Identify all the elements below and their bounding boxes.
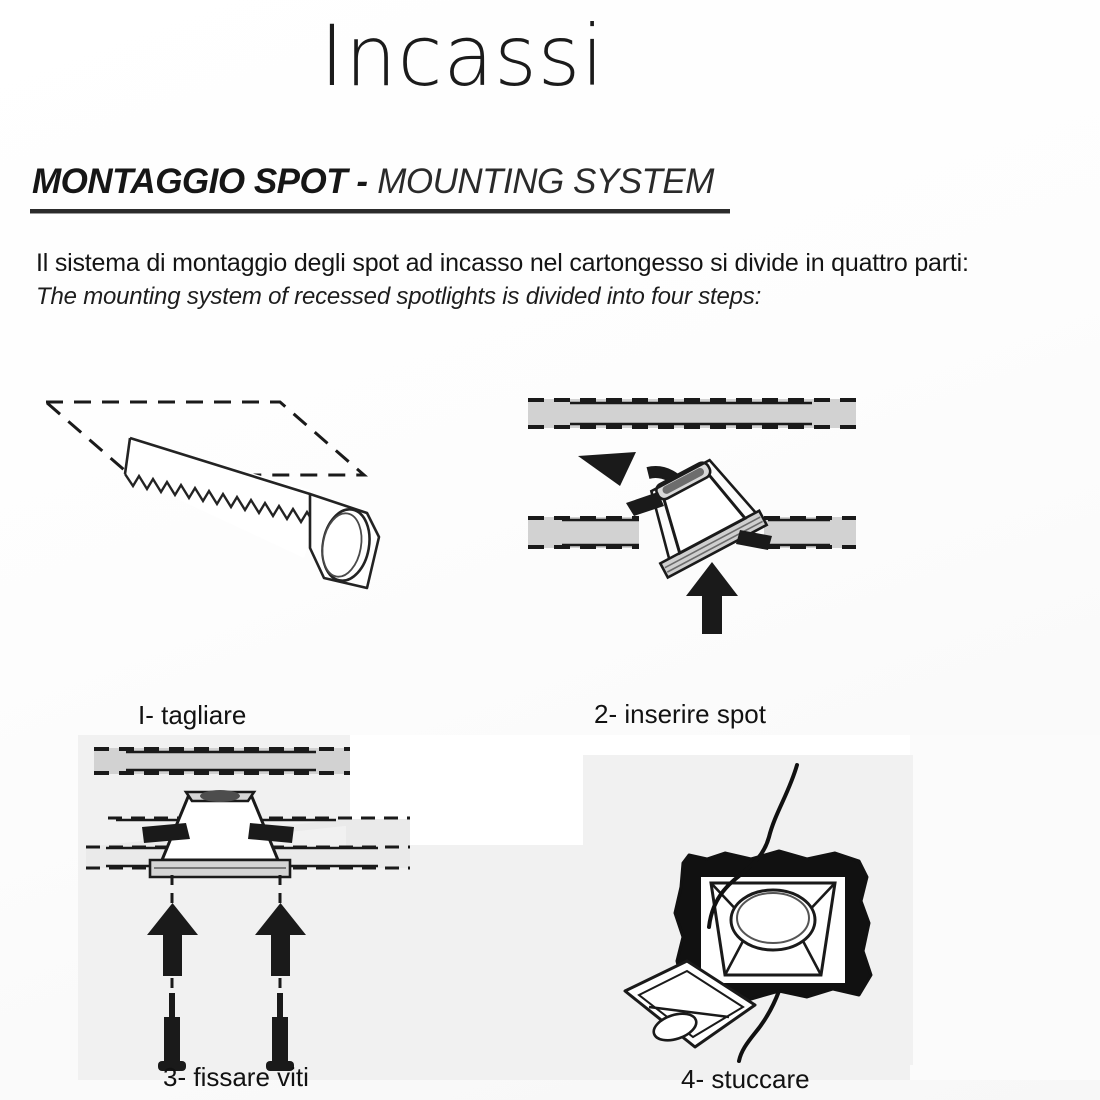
illustration-step-1-cut: [34, 382, 414, 622]
illustration-step-2-insert: [512, 390, 892, 640]
document-page: Incassi MONTAGGIO SPOT - MOUNTING SYSTEM…: [0, 0, 1100, 1100]
spring-clip-left: [626, 492, 664, 516]
lower-board-right-fill: [764, 517, 856, 548]
panel-background-mask-right: [910, 735, 1100, 1080]
screw-arrow-left-head: [147, 903, 198, 935]
intro-line-english: The mounting system of recessed spotligh…: [36, 280, 1076, 314]
screw-left-tip: [169, 993, 175, 1017]
screw-right-shank: [272, 1017, 288, 1061]
step-1-caption: I- tagliare: [138, 700, 246, 731]
handsaw-cutting-plasterboard-icon: [34, 382, 414, 622]
section-heading: MONTAGGIO SPOT - MOUNTING SYSTEM: [32, 160, 932, 204]
trowel-plastering-spotlight-icon: [583, 755, 913, 1075]
screw-arrow-right-shaft: [271, 931, 290, 976]
screw-arrow-right: [255, 903, 306, 976]
page-title: Incassi: [320, 14, 605, 98]
screw-left-shank: [164, 1017, 180, 1061]
push-arrow-shaft: [702, 590, 722, 634]
illustration-step-4-plaster: [583, 755, 913, 1075]
push-arrow-up: [686, 562, 738, 634]
heading-underline-rule: [30, 209, 730, 214]
step-4-caption: 4- stuccare: [681, 1064, 810, 1095]
illustration-step-3-screws: [78, 735, 418, 1080]
screw-arrow-left-shaft: [163, 931, 182, 976]
intro-paragraph: Il sistema di montaggio degli spot ad in…: [36, 246, 1076, 314]
section-heading-english: MOUNTING SYSTEM: [377, 162, 714, 201]
screw-arrow-right-head: [255, 903, 306, 935]
screw-arrow-left: [147, 903, 198, 976]
rotation-arrow-head: [578, 452, 636, 486]
push-arrow-head: [686, 562, 738, 596]
lower-board-left-fill: [528, 517, 639, 548]
screw-left-icon: [158, 993, 186, 1071]
spotlight-lamp-inner: [737, 893, 809, 943]
intro-line-italian: Il sistema di montaggio degli spot ad in…: [36, 246, 1076, 280]
step-3-caption: 3- fissare viti: [163, 1062, 309, 1093]
step-2-caption: 2- inserire spot: [594, 699, 766, 730]
spotlight-lamp: [200, 790, 240, 802]
screw-right-icon: [266, 993, 294, 1071]
spotlight-insert-angle-icon: [512, 390, 892, 640]
saw-blade-fill: [124, 438, 320, 558]
screw-right-tip: [277, 993, 283, 1017]
spotlight-screws-arrows-icon: [78, 735, 418, 1080]
section-heading-italian: MONTAGGIO SPOT -: [32, 162, 368, 201]
